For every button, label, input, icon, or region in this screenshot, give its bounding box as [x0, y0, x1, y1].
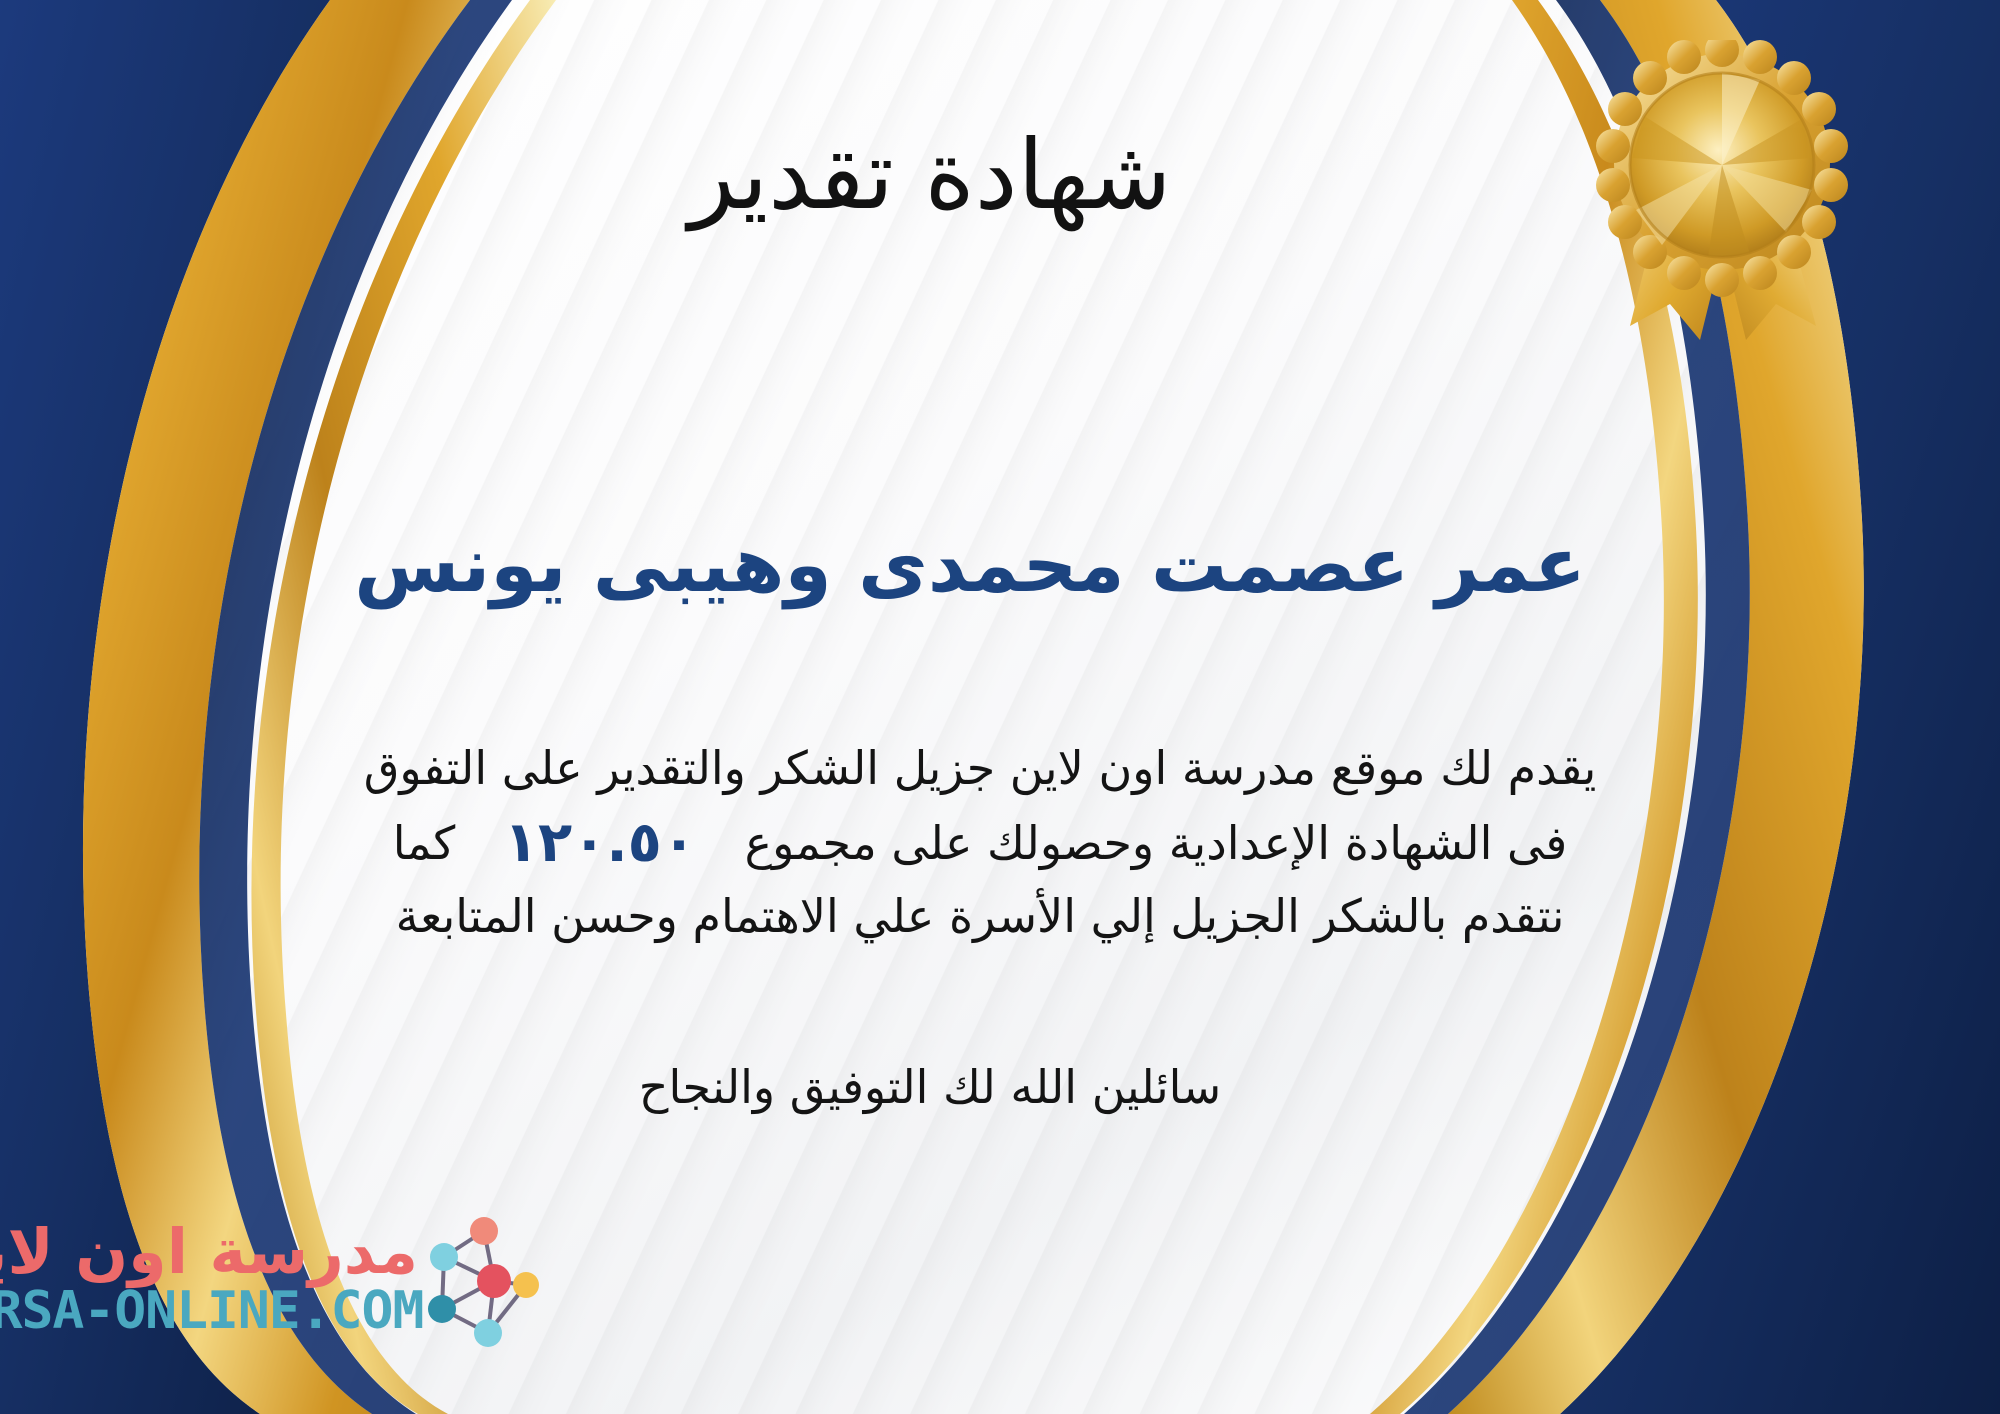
body-line-2-tail: كما — [393, 816, 456, 870]
score-value: ١٢٠.٥٠ — [470, 802, 730, 883]
body-line-3: نتقدم بالشكر الجزيل إلي الأسرة علي الاهت… — [150, 883, 1810, 950]
brand-arabic-name: مدرسة اون لاين — [0, 1219, 418, 1284]
brand-website: MADRSA-ONLINE.COM — [0, 1284, 423, 1339]
body-line-2: فى الشهادة الإعدادية وحصولك على مجموع ١٢… — [150, 802, 1810, 883]
certificate-canvas: شهادة تقدير عمر عصمت محمدى وهيبى يونس يق… — [0, 0, 2000, 1414]
network-nodes-icon — [422, 1209, 542, 1349]
brand-logo-text: مدرسة اون لاين MADRSA-ONLINE.COM — [0, 1219, 418, 1339]
brand-logo[interactable]: مدرسة اون لاين MADRSA-ONLINE.COM — [22, 1199, 542, 1359]
student-name: عمر عصمت محمدى وهيبى يونس — [150, 520, 1790, 609]
closing-line: سائلين الله لك التوفيق والنجاح — [150, 1060, 1710, 1114]
body-line-2-text: فى الشهادة الإعدادية وحصولك على مجموع — [745, 816, 1568, 870]
body-line-1: يقدم لك موقع مدرسة اون لاين جزيل الشكر و… — [150, 735, 1810, 802]
page-title: شهادة تقدير — [150, 120, 1710, 230]
certificate-body: يقدم لك موقع مدرسة اون لاين جزيل الشكر و… — [150, 735, 1810, 950]
